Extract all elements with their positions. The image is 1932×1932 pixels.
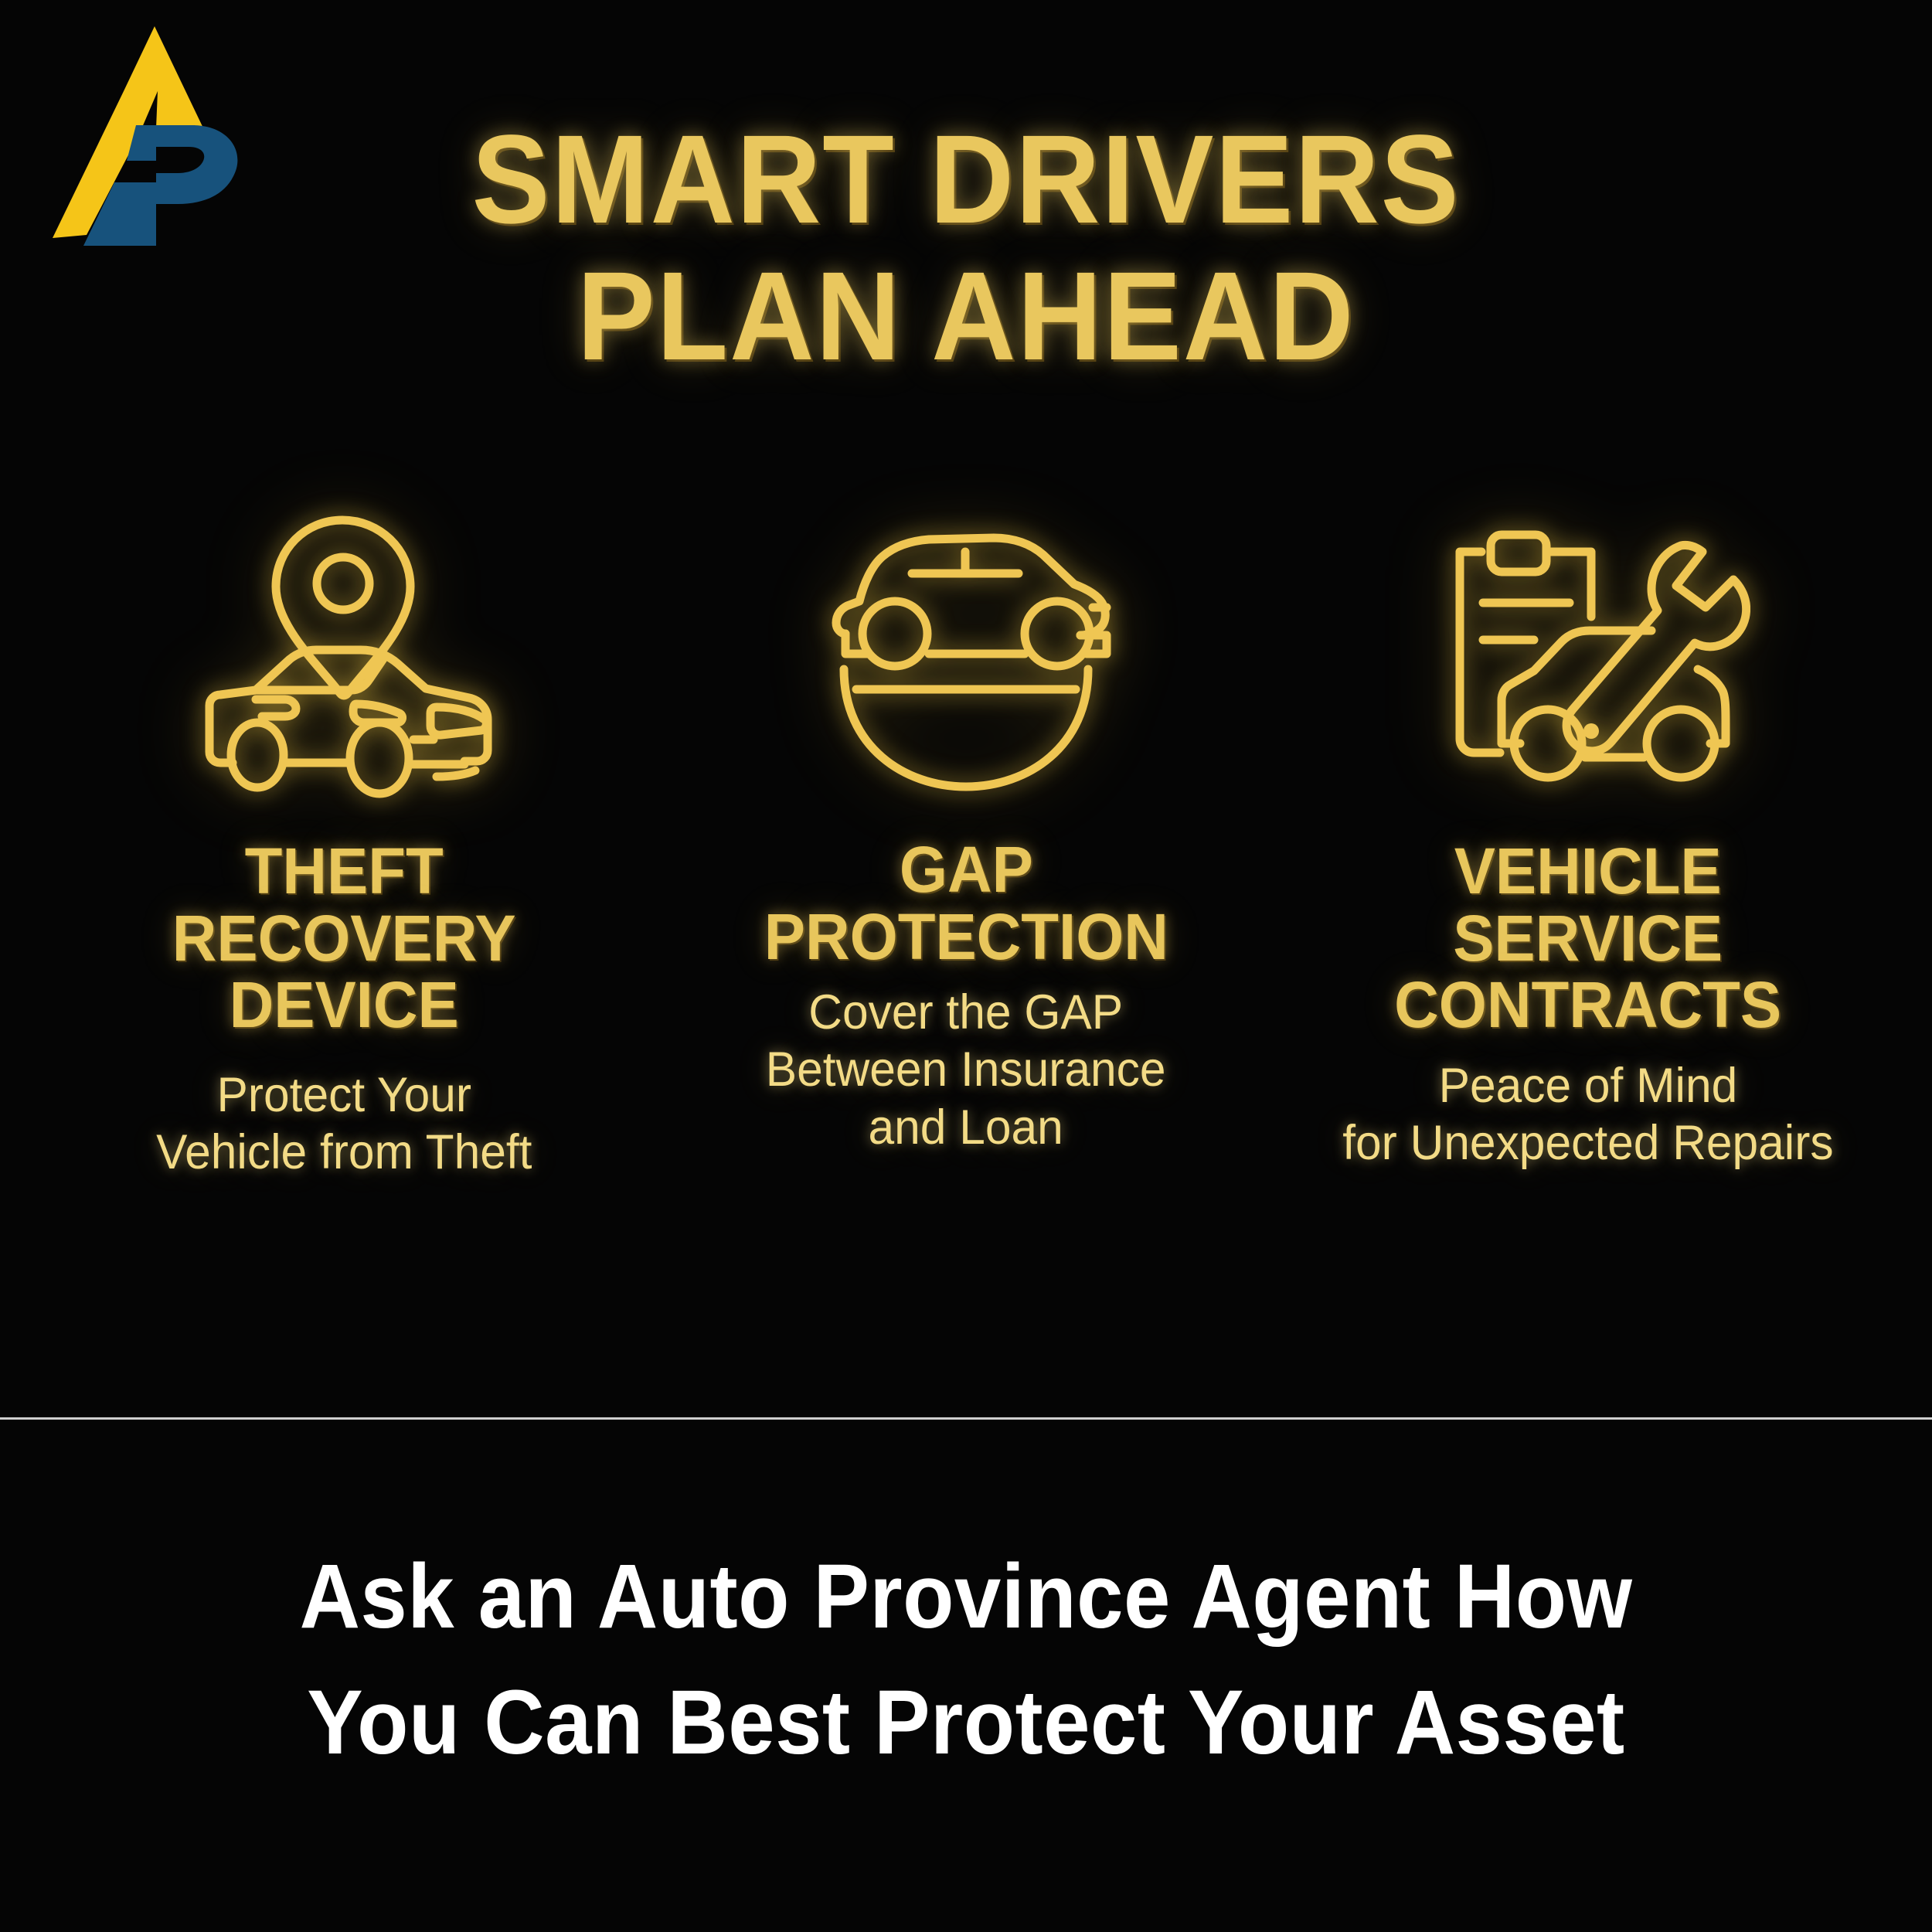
feature-title: GAP PROTECTION: [764, 836, 1168, 970]
logo-mark-icon: [40, 17, 272, 249]
car-over-shield-icon: [811, 495, 1121, 819]
call-to-action: Ask an Auto Province Agent How You Can B…: [184, 1534, 1748, 1786]
section-divider: [0, 1417, 1932, 1420]
poster-canvas: SMART DRIVERS PLAN AHEAD: [0, 0, 1932, 1932]
feature-description: Protect Your Vehicle from Theft: [156, 1066, 532, 1182]
feature-title: THEFT RECOVERY DEVICE: [172, 838, 516, 1039]
cta-line-1: Ask an Auto Province Agent How: [184, 1534, 1748, 1660]
car-with-location-pin-icon: [182, 495, 506, 819]
feature-title: VEHICLE SERVICE CONTRACTS: [1395, 838, 1782, 1039]
feature-gap-protection: GAP PROTECTION Cover the GAP Between Ins…: [668, 495, 1264, 1156]
feature-columns: THEFT RECOVERY DEVICE Protect Your Vehic…: [46, 495, 1886, 1181]
clipboard-car-wrench-icon: [1426, 495, 1750, 819]
headline-line-1: SMART DRIVERS: [284, 116, 1649, 242]
feature-theft-recovery-device: THEFT RECOVERY DEVICE Protect Your Vehic…: [46, 495, 641, 1181]
feature-description: Peace of Mind for Unexpected Repairs: [1342, 1057, 1833, 1172]
feature-vehicle-service-contracts: VEHICLE SERVICE CONTRACTS Peace of Mind …: [1291, 495, 1886, 1172]
auto-province-logo: [40, 17, 272, 249]
feature-description: Cover the GAP Between Insurance and Loan: [766, 984, 1166, 1156]
headline-line-2: PLAN AHEAD: [284, 253, 1649, 379]
page-title: SMART DRIVERS PLAN AHEAD: [284, 116, 1649, 379]
cta-line-2: You Can Best Protect Your Asset: [184, 1660, 1748, 1786]
